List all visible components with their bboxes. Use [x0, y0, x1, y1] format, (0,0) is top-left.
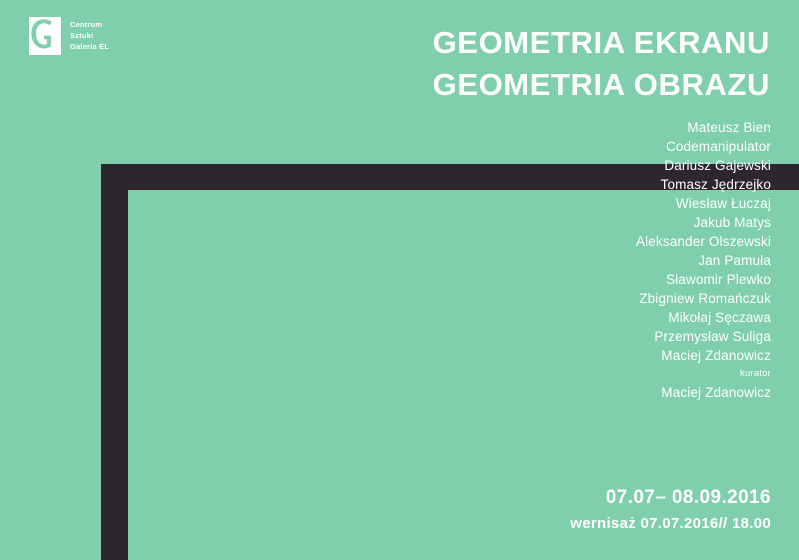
artist-name: Jakub Matys [636, 213, 771, 232]
logo-line-2: Sztuki [70, 30, 109, 41]
artist-name: Tomasz Jędrzejko [636, 175, 771, 194]
title-line-2: GEOMETRIA OBRAZU [433, 64, 770, 106]
artist-name: Wiesław Łuczaj [636, 194, 771, 213]
curator-role-label: kurator [636, 365, 771, 383]
artist-name: Zbigniew Romańczuk [636, 289, 771, 308]
logo-line-1: Centrum [70, 19, 109, 30]
date-range: 07.07– 08.09.2016 [570, 484, 771, 512]
frame-vertical-bar [101, 164, 128, 560]
artist-name: Sławomir Plewko [636, 270, 771, 289]
logo-line-3: Galeria EL [70, 41, 109, 52]
title-line-1: GEOMETRIA EKRANU [433, 22, 770, 64]
artist-name: Jan Pamuła [636, 251, 771, 270]
exhibition-title: GEOMETRIA EKRANU GEOMETRIA OBRAZU [433, 22, 770, 106]
artist-name: Codemanipulator [636, 137, 771, 156]
exhibition-dates: 07.07– 08.09.2016 wernisaż 07.07.2016// … [570, 484, 771, 536]
artist-name: Mikołaj Sęczawa [636, 308, 771, 327]
curator-name: Maciej Zdanowicz [636, 383, 771, 402]
artist-name: Maciej Zdanowicz [636, 346, 771, 365]
exhibition-poster: Centrum Sztuki Galeria EL GEOMETRIA EKRA… [0, 0, 799, 560]
artist-name: Dariusz Gajewski [636, 156, 771, 175]
gallery-logo: Centrum Sztuki Galeria EL [29, 17, 109, 55]
galeria-el-g-monogram-icon [29, 17, 61, 55]
artist-name: Przemysław Suliga [636, 327, 771, 346]
gallery-logo-text: Centrum Sztuki Galeria EL [70, 17, 109, 52]
opening-date: wernisaż 07.07.2016// 18.00 [570, 512, 771, 536]
artist-name: Mateusz Bien [636, 118, 771, 137]
artist-list: Mateusz Bien Codemanipulator Dariusz Gaj… [636, 118, 771, 402]
artist-name: Aleksander Olszewski [636, 232, 771, 251]
